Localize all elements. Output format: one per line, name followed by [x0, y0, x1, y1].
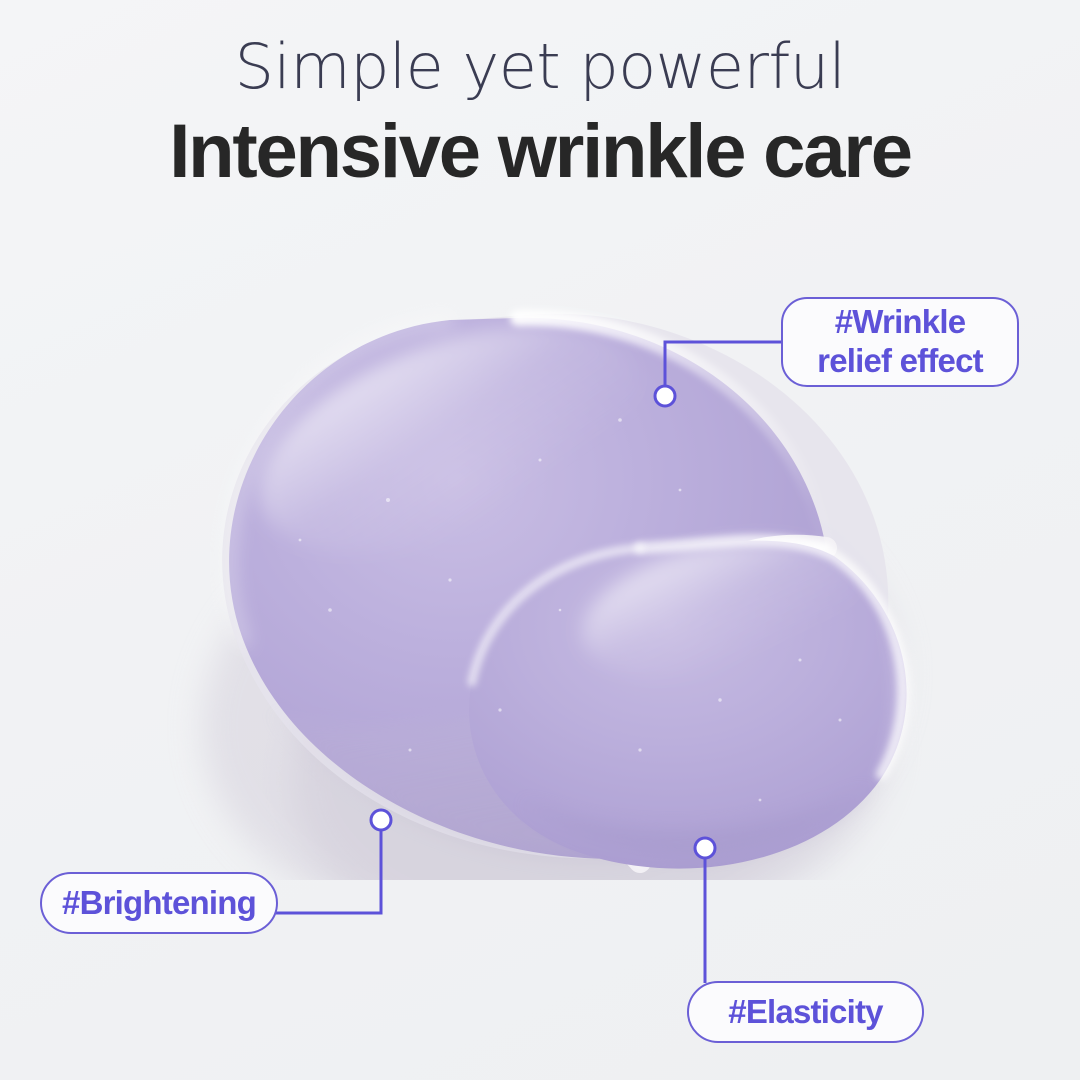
promo-banner: Simple yet powerful Intensive wrinkle ca…: [0, 0, 1080, 1080]
heading-block: Simple yet powerful Intensive wrinkle ca…: [0, 34, 1080, 191]
eyebrow-text: Simple yet powerful: [0, 34, 1080, 99]
callout-label-wrinkle-line2: relief effect: [817, 342, 983, 381]
callout-label-elasticity[interactable]: #Elasticity: [687, 981, 924, 1043]
callout-label-brightening-text: #Brightening: [62, 884, 256, 922]
page-title: Intensive wrinkle care: [0, 113, 1080, 191]
callout-label-wrinkle-relief-effect[interactable]: #Wrinkle relief effect: [781, 297, 1019, 387]
callout-label-brightening[interactable]: #Brightening: [40, 872, 278, 934]
callout-label-wrinkle-line1: #Wrinkle: [817, 303, 983, 342]
callout-label-elasticity-text: #Elasticity: [728, 993, 882, 1031]
